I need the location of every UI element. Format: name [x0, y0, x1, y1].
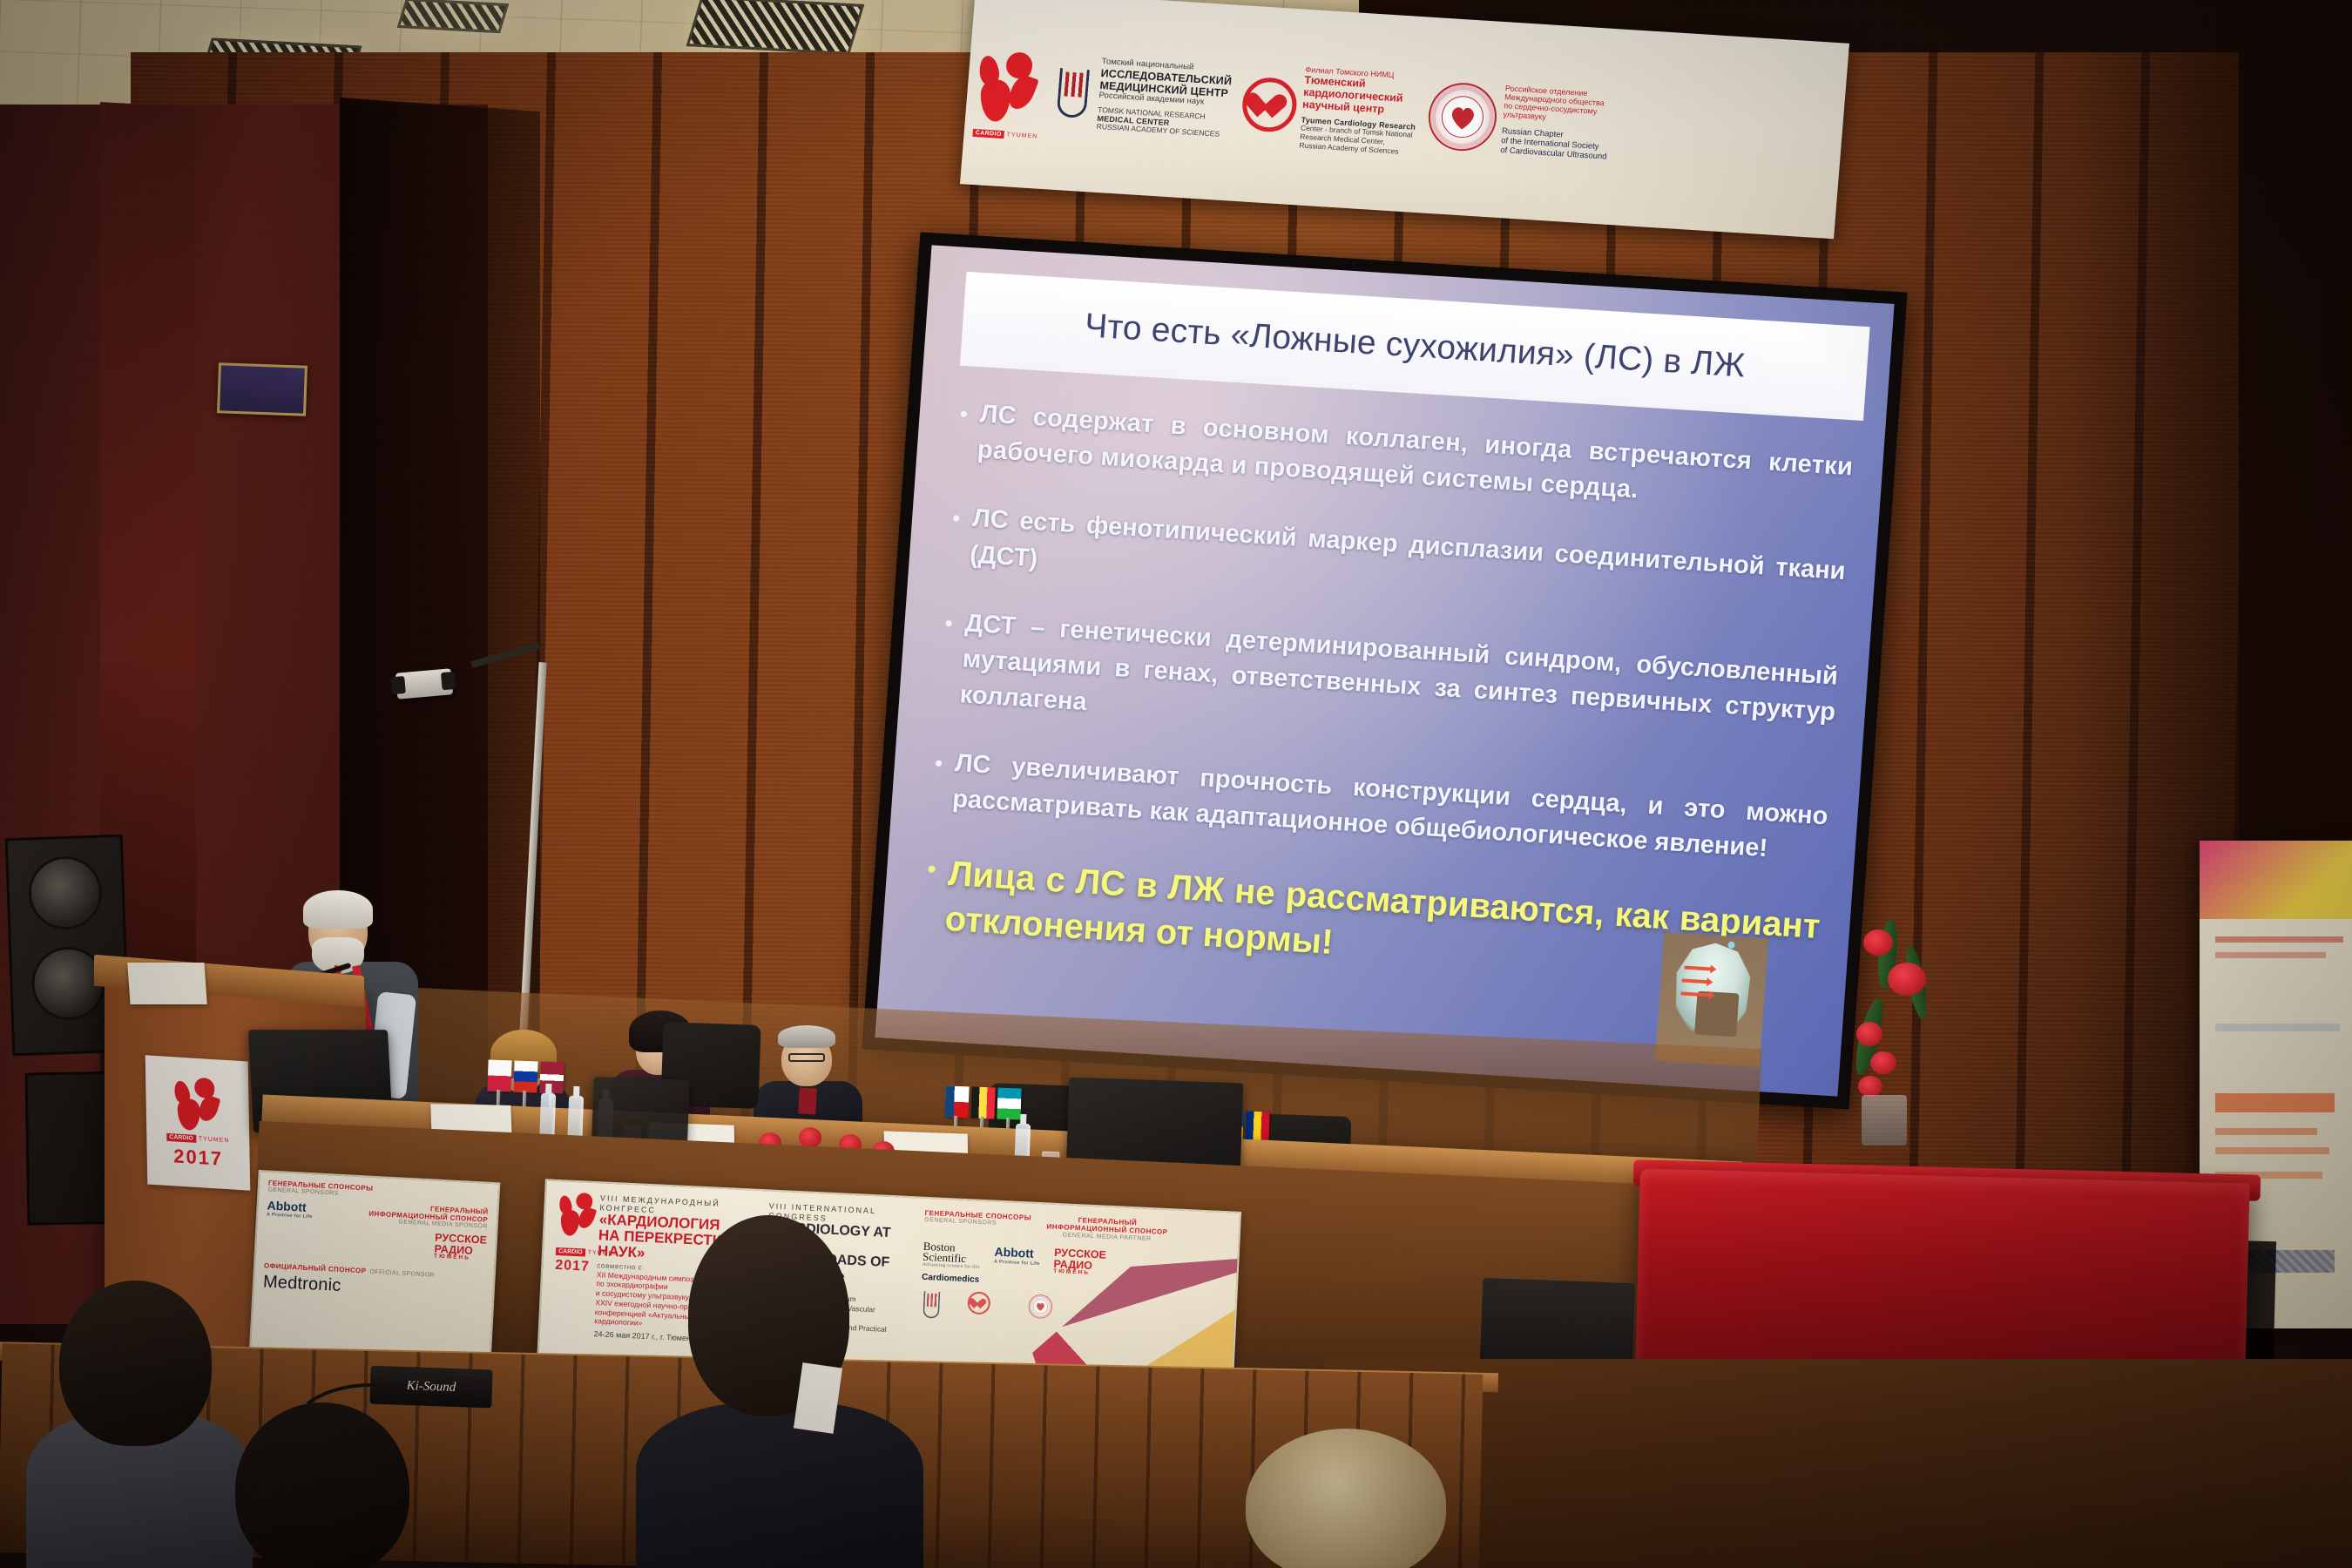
society-seal-logo-icon [1426, 81, 1499, 153]
projection-screen: Что есть «Ложные сухожилия» (ЛС) в ЛЖ • … [862, 233, 1907, 1110]
cardio-word: CARDIO [556, 1247, 585, 1257]
russkoe-radio-city: ТЮМЕНЬ [1053, 1269, 1105, 1277]
audience-member-4 [218, 1394, 479, 1568]
russkoe-radio-city: ТЮМЕНЬ [434, 1254, 486, 1263]
russkoe-radio-logo: РУССКОЕ РАДИО ТЮМЕНЬ [1053, 1247, 1106, 1277]
red-grand-piano [1635, 1168, 2249, 1383]
boston-scientific-logo: Boston Scientific Advancing science for … [923, 1241, 981, 1270]
flag-poland [487, 1059, 511, 1092]
tyumen-word: TYUMEN [587, 1250, 618, 1258]
podium-official-sponsor-en: OFFICIAL SPONSOR [370, 1268, 436, 1278]
flag-group-left [487, 1059, 564, 1093]
podium-year: 2017 [173, 1145, 223, 1171]
tomsk-nrmc-logo-icon [1051, 64, 1095, 121]
tyumen-word: TYUMEN [199, 1136, 230, 1144]
banner-top-graphic [2200, 841, 2352, 919]
presentation-slide: Что есть «Ложные сухожилия» (ЛС) в ЛЖ • … [875, 245, 1894, 1096]
slide-bullet-2: • ЛС есть фенотипический маркер дисплази… [949, 500, 1847, 626]
panelist-hair [778, 1025, 835, 1048]
audience-shoulders [636, 1402, 923, 1568]
org-tomsk-nrmc: Томский национальный ИССЛЕДОВАТЕЛЬСКИЙ М… [1050, 55, 1233, 139]
org-tyumen-cardiology: Филиал Томского НИМЦ Тюменский кардиолог… [1239, 61, 1420, 156]
cardio-word: CARDIO [166, 1132, 196, 1142]
wall-sign [217, 362, 308, 416]
flag-czech-republic [944, 1085, 969, 1118]
slide-bullet-4: • ЛС увеличивают прочность конструкции с… [931, 745, 1829, 871]
abbott-logo: Abbott A Promise for Life [267, 1198, 314, 1220]
audience-member-2 [636, 1215, 923, 1568]
cardio-tyumen-logo-icon [172, 1076, 222, 1133]
slide-bullet-2-text: ЛС есть фенотипический маркер дисплазии … [969, 501, 1847, 625]
slide-bullet-3-text: ДСТ – генетически детерминированный синд… [958, 605, 1839, 766]
flag-latvia [539, 1062, 564, 1094]
cardio-tyumen-logo-icon [557, 1192, 598, 1238]
red-rose [1870, 1051, 1896, 1074]
abbott-logo: Abbott A Promise for Life [994, 1245, 1041, 1267]
slide-bullet-list: • ЛС содержат в основном коллаген, иногд… [920, 395, 1855, 1028]
glass-vase [1862, 1095, 1907, 1146]
heart-circle-logo-icon [1240, 77, 1299, 134]
conference-hall-scene: CARDIO TYUMEN Томский национальный ИССЛЕ… [0, 0, 2352, 1568]
tyumen-word: TYUMEN [1006, 132, 1037, 139]
red-rose [1888, 963, 1926, 996]
echo-chamber [1694, 991, 1740, 1037]
slide-bullet-3: • ДСТ – генетически детерминированный си… [938, 605, 1839, 767]
stage-spotlight [395, 668, 453, 699]
flag-uzbekistan [997, 1088, 1021, 1120]
panelist-necktie [798, 1087, 817, 1114]
flag-russia [513, 1061, 537, 1093]
banner-year: 2017 [555, 1258, 590, 1275]
audience-head [235, 1402, 409, 1568]
cardio-tyumen-logo-icon: CARDIO TYUMEN [974, 50, 1044, 128]
flag-group-center [944, 1085, 1021, 1119]
slide-title: Что есть «Ложные сухожилия» (ЛС) в ЛЖ [1084, 307, 1747, 385]
presenter-hair [303, 890, 373, 929]
audience-member-3 [1246, 1429, 1446, 1568]
podium-paper-sheet [127, 963, 207, 1004]
red-rose [1856, 1022, 1882, 1046]
audience-head [59, 1281, 212, 1446]
heart-circle-logo-icon [967, 1292, 990, 1315]
audience-head [1246, 1429, 1446, 1568]
org-russian-chapter-iscu: Российское отделение Международного обще… [1426, 79, 1612, 162]
russkoe-radio-logo: РУССКОЕ РАДИО ТЮМЕНЬ [434, 1233, 487, 1263]
slide-bullet-4-text: ЛС увеличивают прочность конструкции сер… [951, 746, 1829, 870]
ceiling-light-fixture [397, 0, 510, 33]
ceiling-light-fixture [686, 0, 865, 55]
wall-flower-arrangement [1834, 867, 1990, 1163]
panelist-glasses-icon [788, 1053, 825, 1062]
podium-logo-plate: CARDIO TYUMEN 2017 [145, 1055, 251, 1190]
red-rose [1863, 929, 1893, 956]
boston-tagline: Advancing science for life [923, 1263, 980, 1270]
flag-belgium [970, 1087, 995, 1119]
cardio-word: CARDIO [972, 128, 1004, 138]
red-rose [1858, 1076, 1882, 1097]
echo-marker-dot [1728, 942, 1736, 949]
society-seal-logo-icon [1028, 1294, 1053, 1320]
speaker-cone [27, 855, 103, 931]
